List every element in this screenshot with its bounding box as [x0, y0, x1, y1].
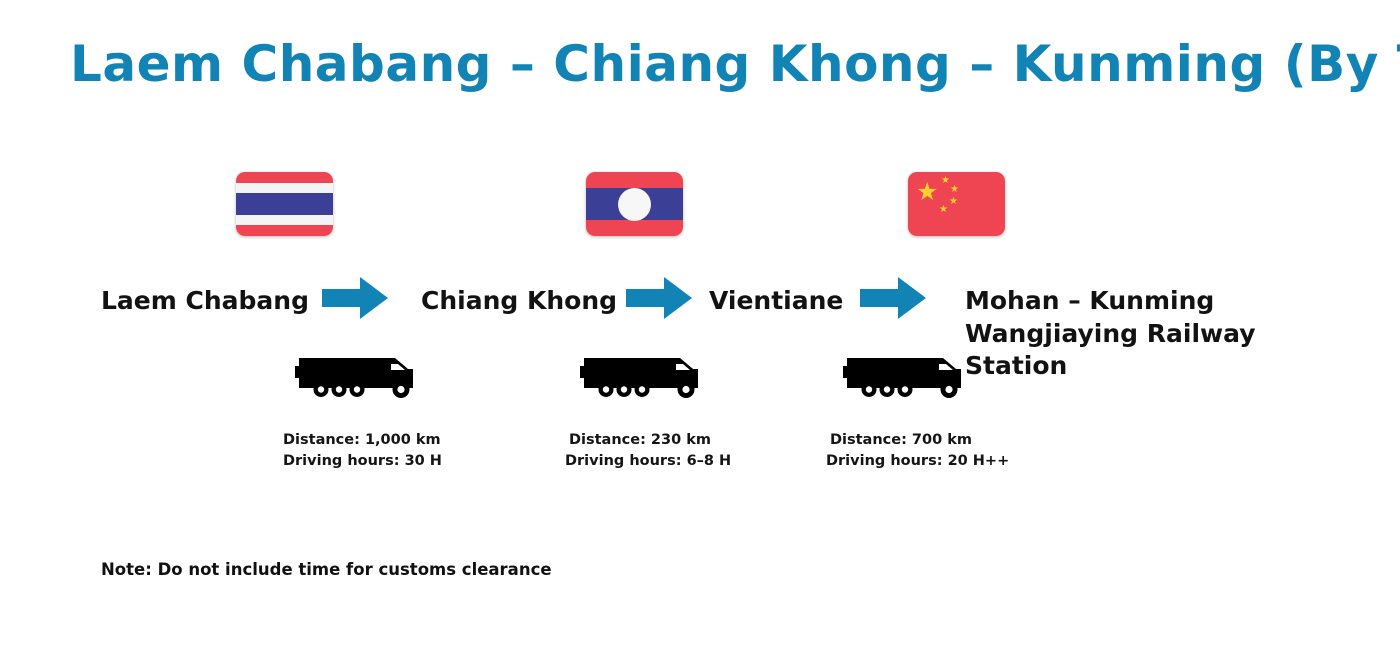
china-flag-stars: ★ ★ ★ ★ ★: [908, 172, 1005, 236]
truck-icon: [295, 354, 417, 399]
thailand-flag: [236, 172, 333, 236]
china-flag: ★ ★ ★ ★ ★: [908, 172, 1005, 236]
arrow-right-icon: [322, 275, 388, 321]
page-title: Laem Chabang – Chiang Khong – Kunming (B…: [70, 36, 1350, 94]
leg-stats: Distance: 700 km Driving hours: 20 H++: [826, 430, 976, 471]
laos-flag-disc: [618, 188, 651, 221]
truck-icon: [580, 354, 702, 399]
leg-distance: Distance: 700 km: [826, 430, 976, 451]
truck-icon: [843, 354, 965, 399]
leg-stats: Distance: 1,000 km Driving hours: 30 H: [283, 430, 433, 471]
route-node-laem-chabang: Laem Chabang: [101, 285, 309, 318]
leg-driving-hours: Driving hours: 6–8 H: [565, 451, 715, 472]
arrow-right-icon: [626, 275, 692, 321]
route-node-mohan-kunming-line2: Wangjiaying Railway Station: [965, 319, 1256, 381]
laos-flag-stripes: [586, 172, 683, 236]
route-node-mohan-kunming-line1: Mohan – Kunming: [965, 286, 1214, 315]
laos-flag: [586, 172, 683, 236]
route-node-vientiane: Vientiane: [709, 285, 843, 318]
route-node-mohan-kunming: Mohan – Kunming Wangjiaying Railway Stat…: [965, 285, 1345, 383]
leg-stats: Distance: 230 km Driving hours: 6–8 H: [565, 430, 715, 471]
leg-driving-hours: Driving hours: 20 H++: [826, 451, 976, 472]
leg-distance: Distance: 1,000 km: [283, 430, 433, 451]
arrow-right-icon: [860, 275, 926, 321]
route-node-chiang-khong: Chiang Khong: [421, 285, 617, 318]
leg-driving-hours: Driving hours: 30 H: [283, 451, 433, 472]
leg-distance: Distance: 230 km: [565, 430, 715, 451]
thailand-flag-stripes: [236, 172, 333, 236]
footnote: Note: Do not include time for customs cl…: [101, 560, 552, 579]
